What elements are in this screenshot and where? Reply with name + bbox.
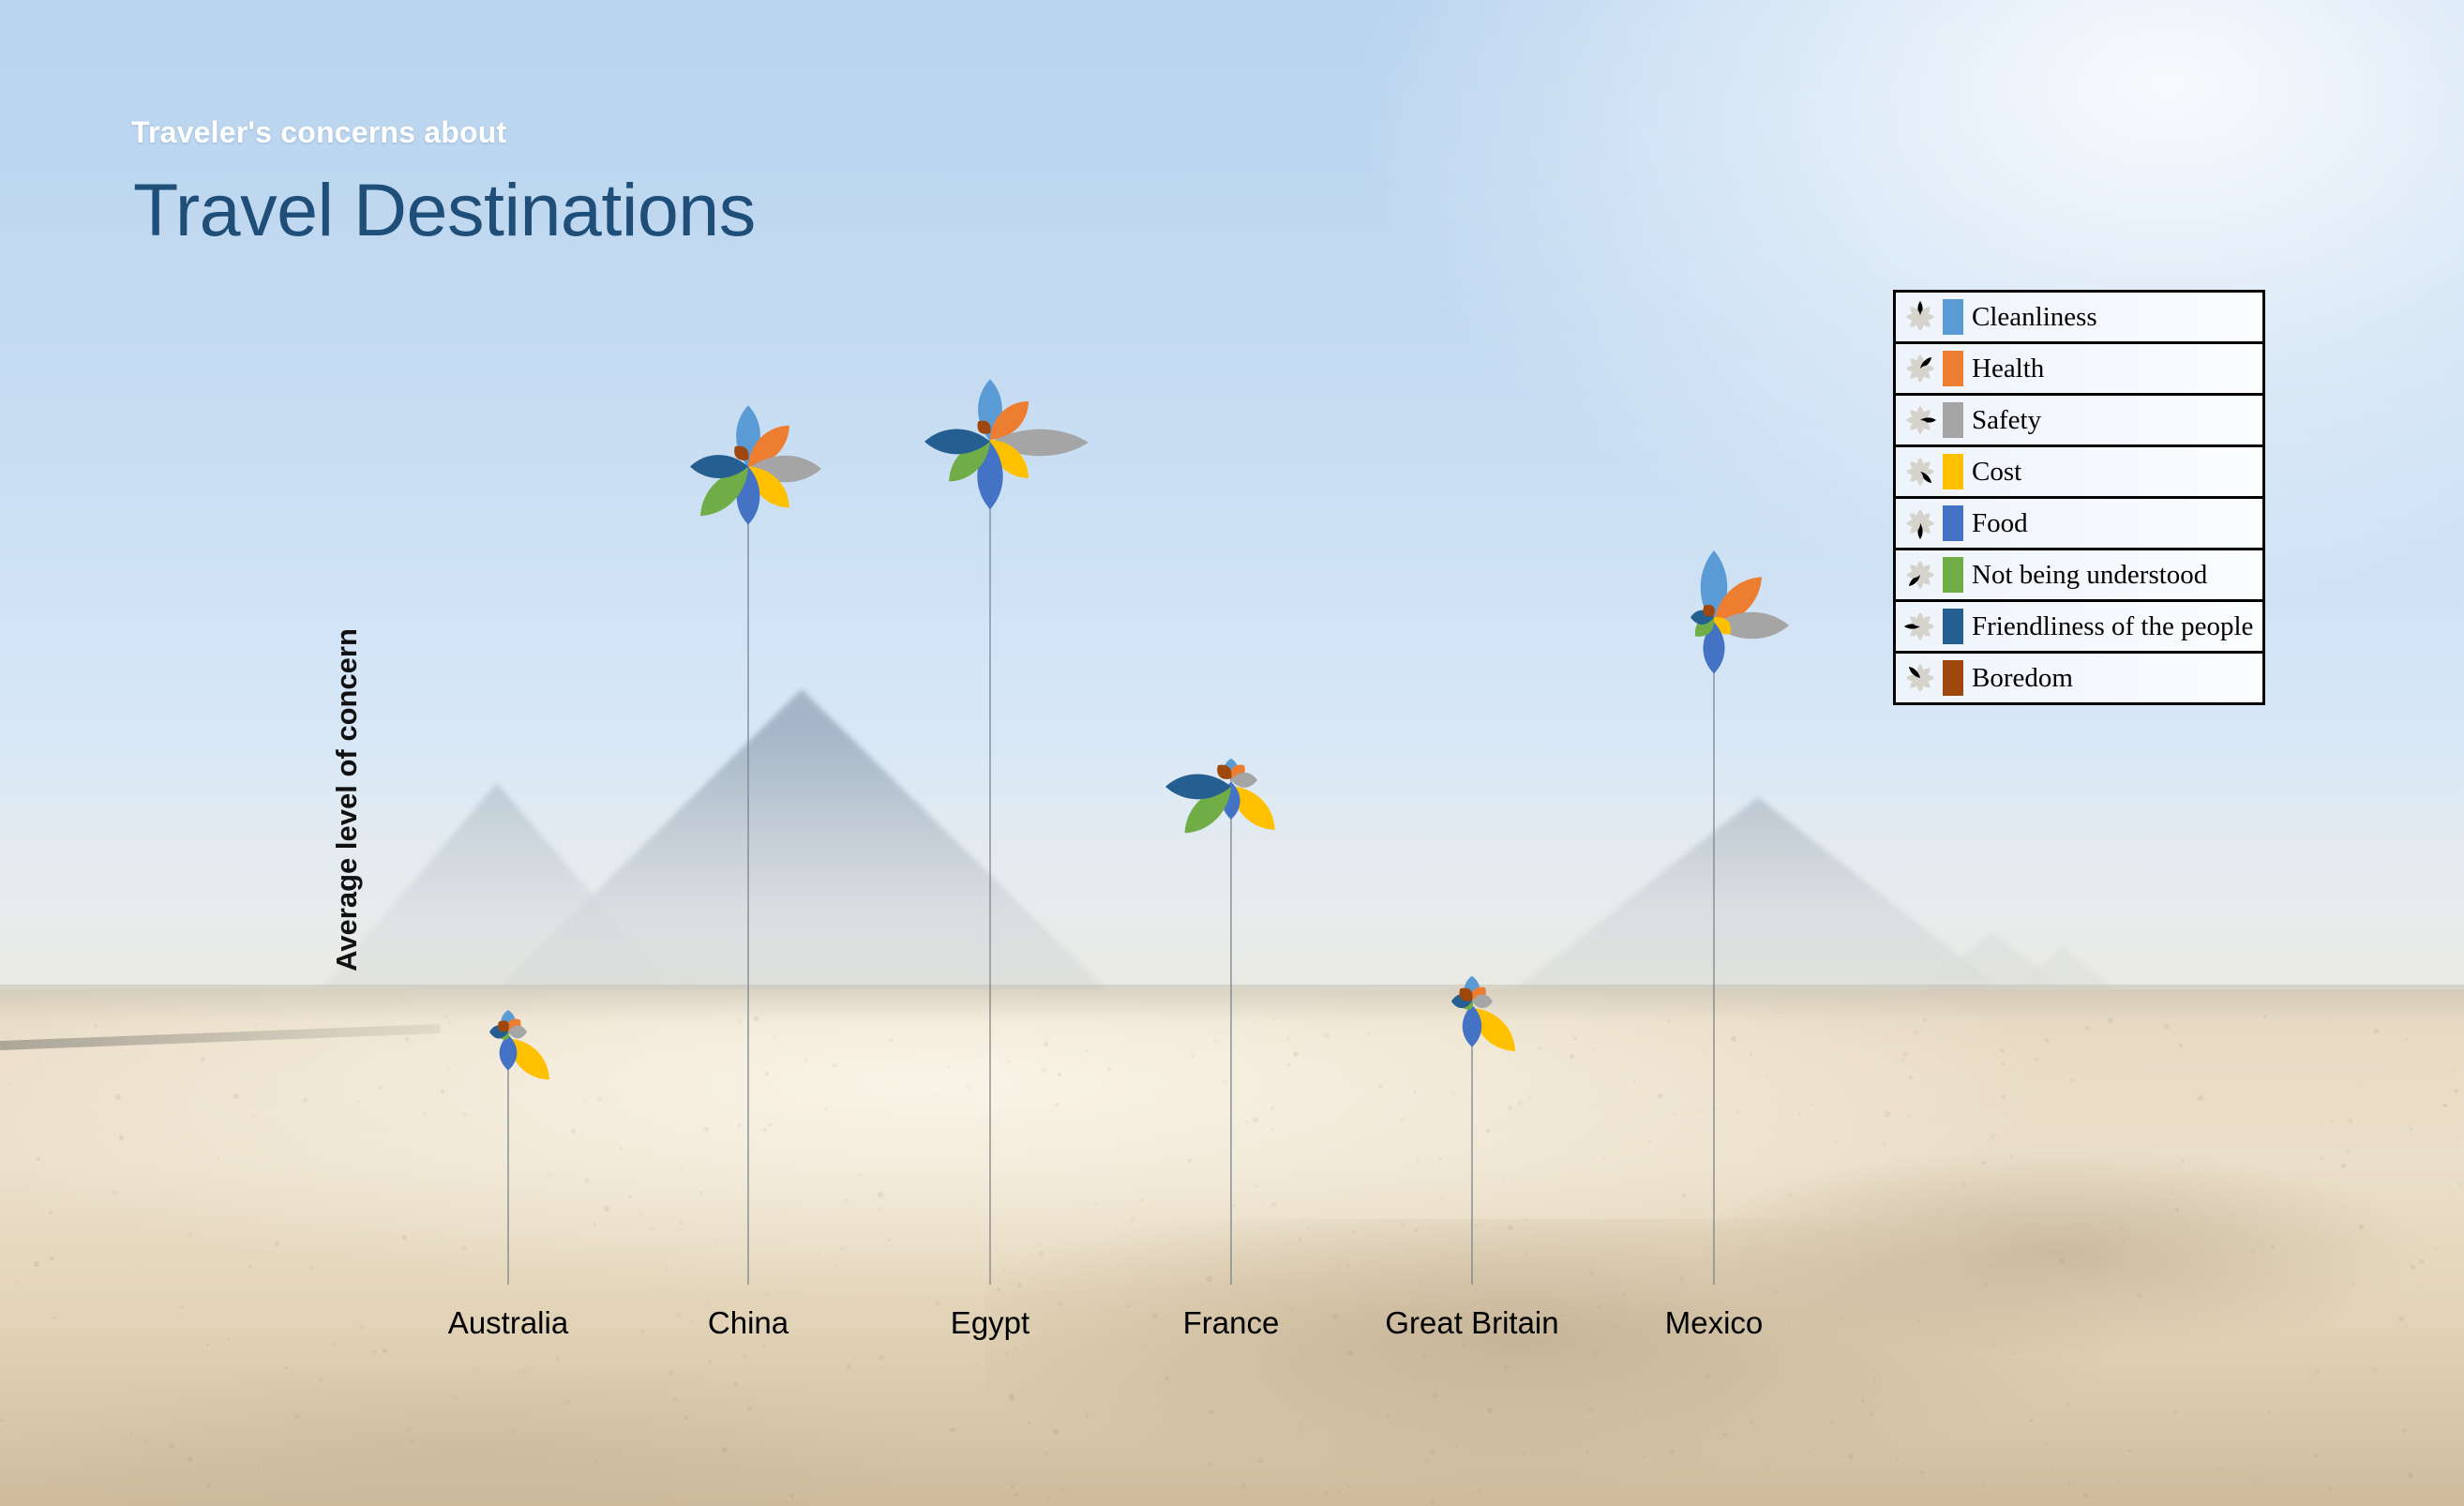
flower-petal-e-icon [1901,401,1939,439]
legend-item[interactable]: Not being understood [1896,550,2262,602]
legend-item-label: Safety [1972,405,2041,436]
legend-item-label: Health [1972,354,2044,384]
flower-petal-s-icon [1901,505,1939,542]
chart-legend: CleanlinessHealthSafetyCostFoodNot being… [1893,290,2265,705]
stem-egypt [989,422,991,1285]
legend-color-swatch [1943,609,1963,644]
category-label-france: France [1183,1305,1280,1341]
legend-item-label: Not being understood [1972,560,2207,591]
legend-item-label: Friendliness of the people [1972,611,2253,642]
flower-petal-n-icon [1901,298,1939,336]
flower-petal-nw-icon [1901,659,1939,697]
legend-item-label: Cleanliness [1972,302,2097,333]
category-label-china: China [708,1305,789,1341]
legend-color-swatch [1943,660,1963,696]
legend-item[interactable]: Friendliness of the people [1896,602,2262,654]
legend-color-swatch [1943,454,1963,489]
legend-item[interactable]: Cleanliness [1896,293,2262,344]
legend-color-swatch [1943,505,1963,541]
stem-france [1230,767,1232,1285]
category-label-great-britain: Great Britain [1385,1305,1558,1341]
legend-item-label: Food [1972,508,2028,539]
legend-item[interactable]: Health [1896,344,2262,396]
legend-item[interactable]: Safety [1896,396,2262,447]
legend-color-swatch [1943,351,1963,386]
legend-item-label: Boredom [1972,663,2073,694]
stem-mexico [1713,605,1715,1285]
stem-china [747,448,749,1285]
category-label-egypt: Egypt [951,1305,1029,1341]
legend-item-label: Cost [1972,457,2021,488]
category-label-mexico: Mexico [1665,1305,1764,1341]
category-label-australia: Australia [448,1305,568,1341]
flower-petal-ne-icon [1901,350,1939,387]
legend-color-swatch [1943,557,1963,593]
flower-petal-w-icon [1901,608,1939,645]
legend-color-swatch [1943,299,1963,335]
legend-color-swatch [1943,402,1963,438]
chart-plot-area: AustraliaChinaEgyptFranceGreat BritainMe… [0,0,2464,1506]
flower-petal-sw-icon [1901,556,1939,594]
legend-item[interactable]: Boredom [1896,654,2262,702]
legend-item[interactable]: Food [1896,499,2262,550]
legend-item[interactable]: Cost [1896,447,2262,499]
flower-petal-se-icon [1901,453,1939,490]
